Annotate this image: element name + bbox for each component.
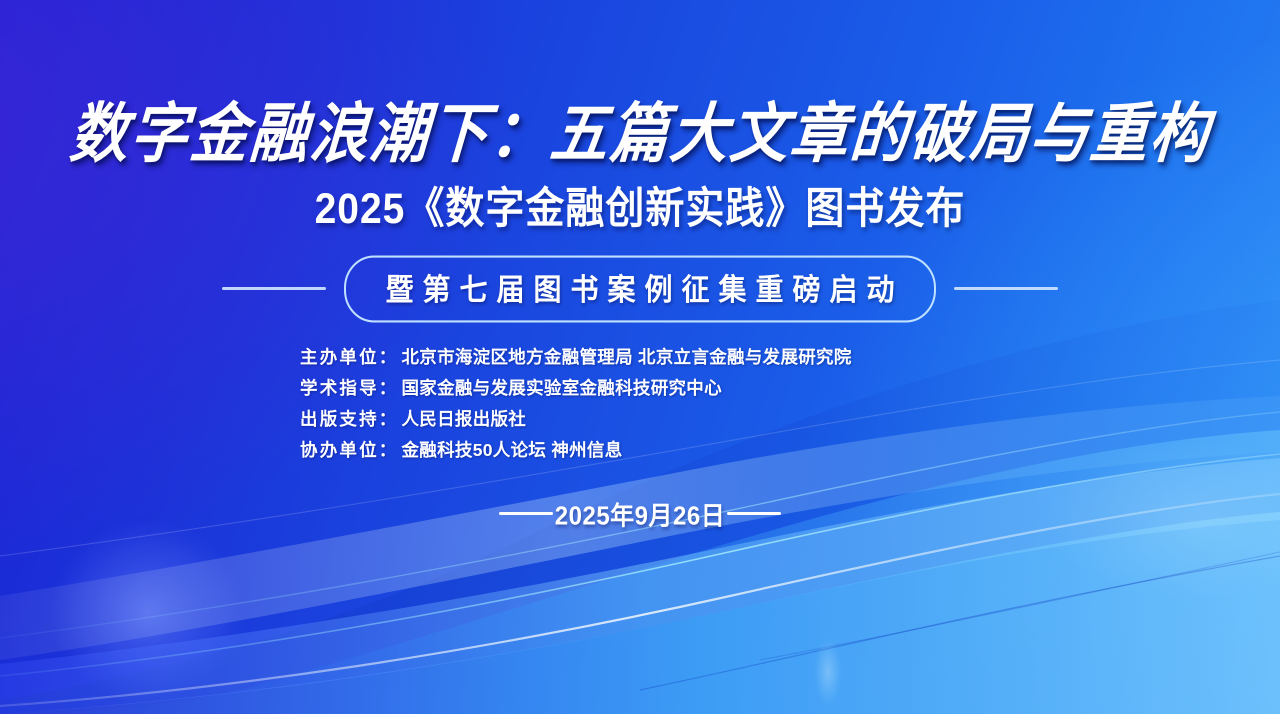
date-dash-right	[727, 512, 781, 515]
divider-line-right	[954, 287, 1058, 290]
page-subtitle: 2025《数字金融创新实践》图书发布	[315, 186, 966, 233]
organizer-value: 国家金融与发展实验室金融科技研究中心	[402, 375, 722, 402]
launch-announcement-pill: 暨第七届图书案例征集重磅启动	[344, 255, 935, 322]
organizer-row: 协办单位： 金融科技50人论坛 神州信息	[300, 437, 623, 464]
organizer-label: 学术指导：	[300, 375, 399, 402]
event-date-row: 2025年9月26日	[499, 496, 781, 531]
date-dash-left	[499, 512, 553, 515]
organizer-row: 学术指导： 国家金融与发展实验室金融科技研究中心	[300, 375, 722, 402]
organizer-value: 金融科技50人论坛 神州信息	[402, 437, 623, 464]
poster-content: 数字金融浪潮下：五篇大文章的破局与重构 2025《数字金融创新实践》图书发布 暨…	[0, 0, 1280, 714]
event-date: 2025年9月26日	[553, 495, 727, 532]
divider-line-left	[222, 287, 326, 290]
organizer-value: 人民日报出版社	[402, 406, 527, 433]
organizer-label: 协办单位：	[300, 437, 399, 464]
poster-canvas: 数字金融浪潮下：五篇大文章的破局与重构 2025《数字金融创新实践》图书发布 暨…	[0, 0, 1280, 714]
organizer-label: 出版支持：	[300, 406, 399, 433]
organizer-row: 出版支持： 人民日报出版社	[300, 406, 526, 433]
organizer-value: 北京市海淀区地方金融管理局 北京立言金融与发展研究院	[402, 344, 852, 371]
organizer-row: 主办单位： 北京市海淀区地方金融管理局 北京立言金融与发展研究院	[300, 344, 852, 371]
organizer-label: 主办单位：	[300, 344, 399, 371]
organizer-list: 主办单位： 北京市海淀区地方金融管理局 北京立言金融与发展研究院 学术指导： 国…	[290, 344, 990, 465]
page-title: 数字金融浪潮下：五篇大文章的破局与重构	[68, 100, 1213, 170]
pill-banner-row: 暨第七届图书案例征集重磅启动	[222, 258, 1057, 320]
